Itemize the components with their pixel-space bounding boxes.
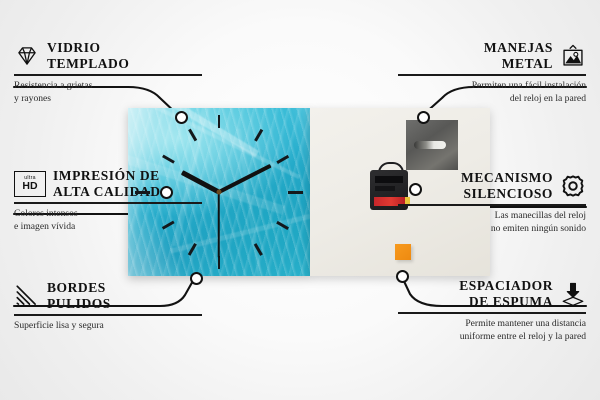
gear-icon	[560, 173, 586, 199]
clock-tick	[188, 129, 197, 142]
feature-desc-line1: Resistencia a grietas	[14, 80, 202, 93]
feature-desc-line1: Superficie lisa y segura	[14, 320, 202, 333]
movement-detail	[375, 186, 395, 191]
arrow-down-layers-icon	[560, 281, 586, 307]
callout-dot-manejas	[417, 111, 430, 124]
diamond-icon	[14, 43, 40, 69]
feature-title-line1: IMPRESIÓN DE	[53, 168, 161, 184]
feature-title-line2: SILENCIOSO	[461, 186, 553, 202]
clock-second-hand	[218, 192, 220, 258]
polished-edge-icon	[14, 283, 40, 309]
clock-tick	[162, 155, 175, 164]
clock-tick	[276, 221, 289, 230]
feature-desc-line2: uniforme entre el reloj y la pared	[398, 331, 586, 344]
feature-desc-line2: y rayones	[14, 93, 202, 106]
feature-rule	[398, 204, 586, 206]
feature-bordes-pulidos: BORDES PULIDOS Superficie lisa y segura	[14, 280, 202, 333]
feature-rule	[398, 74, 586, 76]
feature-desc-line1: Permite mantener una distancia	[398, 318, 586, 331]
feature-mecanismo-silencioso: MECANISMO SILENCIOSO Las manecillas del …	[398, 170, 586, 236]
feature-title-line1: ESPACIADOR	[459, 278, 553, 294]
feature-espaciador-espuma: ESPACIADOR DE ESPUMA Permite mantener un…	[398, 278, 586, 344]
clock-tick	[135, 191, 150, 194]
callout-dot-impresion	[160, 186, 173, 199]
clock-minute-hand	[218, 164, 272, 194]
feature-title-line1: VIDRIO	[47, 40, 129, 56]
clock-center-hub	[217, 190, 222, 195]
callout-dot-espaciador	[396, 270, 409, 283]
feature-desc-line1: Colores intensos	[14, 208, 202, 221]
feature-title-line2: DE ESPUMA	[459, 294, 553, 310]
feature-desc-line1: Permiten una fácil instalación	[398, 80, 586, 93]
wall-hanging-frame-icon	[560, 43, 586, 69]
clock-tick	[218, 115, 221, 128]
hd-icon-bottom-text: HD	[22, 181, 37, 192]
foam-spacer	[395, 244, 411, 260]
infographic-canvas: VIDRIO TEMPLADO Resistencia a grietas y …	[0, 0, 600, 400]
clock-tick	[276, 155, 289, 164]
feature-manejas-metal: MANEJAS METAL Permiten una fácil instala…	[398, 40, 586, 106]
callout-dot-mecanismo	[409, 183, 422, 196]
clock-tick	[254, 129, 263, 142]
clock-tick	[254, 243, 263, 256]
feature-title-line2: TEMPLADO	[47, 56, 129, 72]
feature-title-line1: BORDES	[47, 280, 111, 296]
clock-tick	[288, 191, 303, 194]
feature-title-line1: MANEJAS	[484, 40, 553, 56]
callout-dot-vidrio-templado	[175, 111, 188, 124]
metal-hanger-plate	[406, 120, 458, 170]
callout-dot-bordes	[190, 272, 203, 285]
feature-rule	[14, 74, 202, 76]
feature-rule	[14, 202, 202, 204]
feature-title-line2: PULIDOS	[47, 296, 111, 312]
ultra-hd-icon: ultra HD	[14, 171, 46, 197]
feature-rule	[398, 312, 586, 314]
feature-title-line1: MECANISMO	[461, 170, 553, 186]
feature-vidrio-templado: VIDRIO TEMPLADO Resistencia a grietas y …	[14, 40, 202, 106]
feature-desc-line1: Las manecillas del reloj	[398, 210, 586, 223]
feature-desc-line2: del reloj en la pared	[398, 93, 586, 106]
clock-tick	[188, 243, 197, 256]
feature-title-line2: METAL	[484, 56, 553, 72]
feature-desc-line2: no emiten ningún sonido	[398, 223, 586, 236]
hanger-slot	[414, 141, 446, 149]
feature-rule	[14, 314, 202, 316]
clock-tick	[218, 256, 221, 269]
feature-impresion-alta-calidad: ultra HD IMPRESIÓN DE ALTA CALIDAD Color…	[14, 168, 202, 234]
